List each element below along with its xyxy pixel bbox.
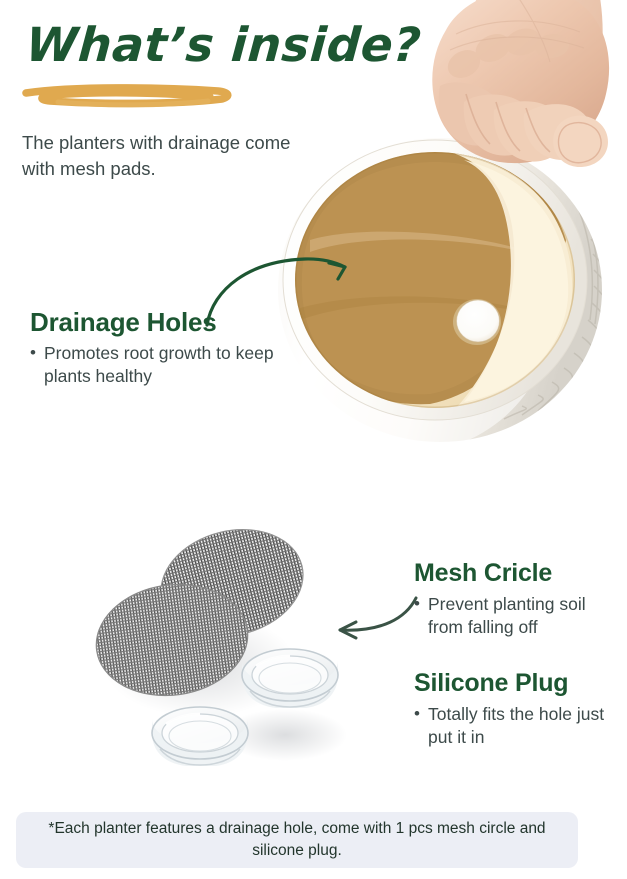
section-mesh-heading: Mesh Cricle [414, 560, 619, 588]
silicone-plug-lower [152, 707, 248, 766]
title-underline-swoosh [22, 84, 237, 110]
section-plug-bullets: Totally fits the hole just put it in [414, 703, 624, 751]
mesh-arrow-icon [318, 588, 428, 650]
hand-holding-planter [432, 0, 609, 167]
infographic-page: What’s inside? The planters with drainag… [0, 0, 627, 879]
section-mesh-bullets: Prevent planting soil from falling off [414, 593, 619, 641]
list-item: Prevent planting soil from falling off [414, 593, 619, 641]
list-item: Promotes root growth to keep plants heal… [30, 342, 280, 390]
drainage-hole [453, 299, 501, 345]
section-plug: Silicone Plug Totally fits the hole just… [414, 670, 624, 750]
intro-text: The planters with drainage come with mes… [22, 130, 292, 183]
footer-note-text: *Each planter features a drainage hole, … [16, 818, 578, 862]
section-plug-heading: Silicone Plug [414, 670, 624, 698]
page-title-block: What’s inside? [26, 22, 356, 112]
section-drainage-bullets: Promotes root growth to keep plants heal… [30, 342, 280, 390]
list-item: Totally fits the hole just put it in [414, 703, 624, 751]
footer-note-banner: *Each planter features a drainage hole, … [16, 812, 578, 868]
page-title: What’s inside? [24, 22, 357, 69]
section-drainage-heading: Drainage Holes [30, 308, 280, 337]
section-drainage: Drainage Holes Promotes root growth to k… [30, 308, 280, 389]
section-mesh: Mesh Cricle Prevent planting soil from f… [414, 560, 619, 640]
silicone-plug-upper [242, 649, 338, 708]
